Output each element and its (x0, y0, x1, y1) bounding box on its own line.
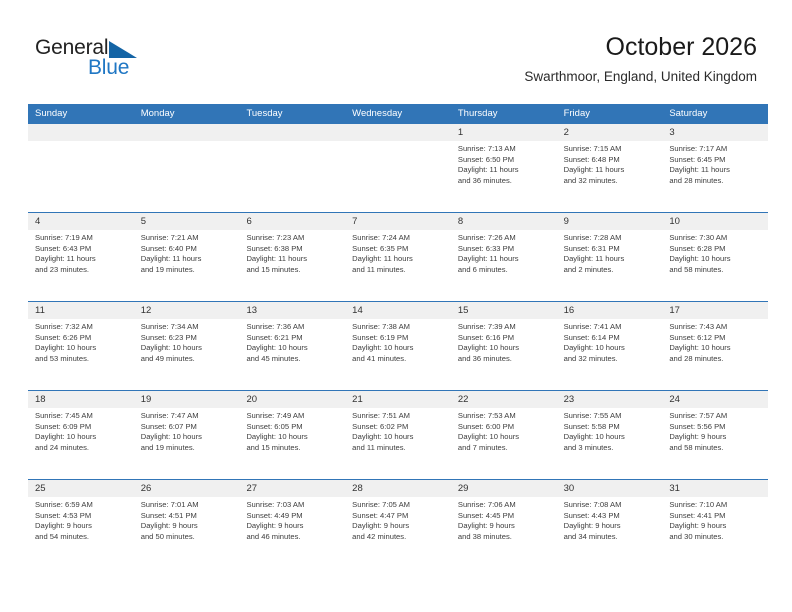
day-detail-line: Sunset: 4:51 PM (141, 511, 234, 522)
day-number-23[interactable]: 23 (557, 391, 663, 408)
day-cell-empty (239, 141, 345, 212)
day-detail-line: and 38 minutes. (458, 532, 551, 543)
day-detail-line: Sunset: 4:49 PM (246, 511, 339, 522)
day-cell-26[interactable]: Sunrise: 7:01 AMSunset: 4:51 PMDaylight:… (134, 497, 240, 568)
general-blue-logo[interactable]: General Blue (35, 36, 225, 86)
day-detail-line: Daylight: 10 hours (458, 432, 551, 443)
day-detail-line: Sunrise: 7:34 AM (141, 322, 234, 333)
week-detail-strip: Sunrise: 6:59 AMSunset: 4:53 PMDaylight:… (28, 497, 768, 568)
day-detail-line: Sunrise: 6:59 AM (35, 500, 128, 511)
day-detail-line: Sunrise: 7:24 AM (352, 233, 445, 244)
day-number-1[interactable]: 1 (451, 124, 557, 141)
day-number-empty (239, 124, 345, 141)
day-detail-line: and 42 minutes. (352, 532, 445, 543)
day-detail-line: Sunrise: 7:45 AM (35, 411, 128, 422)
day-of-week-wednesday: Wednesday (345, 104, 451, 124)
day-number-9[interactable]: 9 (557, 213, 663, 230)
day-detail-line: and 45 minutes. (246, 354, 339, 365)
day-cell-1[interactable]: Sunrise: 7:13 AMSunset: 6:50 PMDaylight:… (451, 141, 557, 212)
day-detail-line: Daylight: 11 hours (564, 165, 657, 176)
day-detail-line: and 2 minutes. (564, 265, 657, 276)
page-header: General Blue October 2026 Swarthmoor, En… (0, 0, 792, 100)
day-detail-line: Sunset: 6:28 PM (669, 244, 762, 255)
day-detail-line: Sunset: 6:33 PM (458, 244, 551, 255)
day-detail-line: Daylight: 9 hours (352, 521, 445, 532)
day-number-19[interactable]: 19 (134, 391, 240, 408)
week-date-strip: 11121314151617 (28, 302, 768, 319)
day-number-21[interactable]: 21 (345, 391, 451, 408)
day-detail-line: Sunset: 6:09 PM (35, 422, 128, 433)
day-detail-line: Sunset: 6:35 PM (352, 244, 445, 255)
day-detail-line: and 50 minutes. (141, 532, 234, 543)
calendar-week-row: 11121314151617Sunrise: 7:32 AMSunset: 6:… (28, 301, 768, 390)
day-number-6[interactable]: 6 (239, 213, 345, 230)
day-cell-5[interactable]: Sunrise: 7:21 AMSunset: 6:40 PMDaylight:… (134, 230, 240, 301)
day-number-7[interactable]: 7 (345, 213, 451, 230)
title-block: October 2026 Swarthmoor, England, United… (524, 32, 757, 87)
day-cell-11[interactable]: Sunrise: 7:32 AMSunset: 6:26 PMDaylight:… (28, 319, 134, 390)
day-detail-line: and 19 minutes. (141, 265, 234, 276)
day-detail-line: Sunrise: 7:17 AM (669, 144, 762, 155)
day-cell-4[interactable]: Sunrise: 7:19 AMSunset: 6:43 PMDaylight:… (28, 230, 134, 301)
day-detail-line: Daylight: 11 hours (564, 254, 657, 265)
week-date-strip: 18192021222324 (28, 391, 768, 408)
day-detail-line: and 53 minutes. (35, 354, 128, 365)
day-detail-line: Daylight: 10 hours (246, 432, 339, 443)
day-detail-line: Sunset: 6:45 PM (669, 155, 762, 166)
day-detail-line: Sunrise: 7:15 AM (564, 144, 657, 155)
day-detail-line: and 24 minutes. (35, 443, 128, 454)
day-detail-line: Daylight: 10 hours (564, 343, 657, 354)
day-detail-line: and 46 minutes. (246, 532, 339, 543)
day-number-2[interactable]: 2 (557, 124, 663, 141)
day-detail-line: Sunrise: 7:28 AM (564, 233, 657, 244)
day-detail-line: Sunset: 6:07 PM (141, 422, 234, 433)
day-cell-empty (134, 141, 240, 212)
day-cell-8[interactable]: Sunrise: 7:26 AMSunset: 6:33 PMDaylight:… (451, 230, 557, 301)
day-of-week-saturday: Saturday (662, 104, 768, 124)
day-detail-line: and 28 minutes. (669, 354, 762, 365)
day-number-27[interactable]: 27 (239, 480, 345, 497)
day-detail-line: Daylight: 11 hours (246, 254, 339, 265)
day-detail-line: Sunrise: 7:23 AM (246, 233, 339, 244)
day-detail-line: Sunset: 6:12 PM (669, 333, 762, 344)
calendar-week-row: 18192021222324Sunrise: 7:45 AMSunset: 6:… (28, 390, 768, 479)
day-cell-18[interactable]: Sunrise: 7:45 AMSunset: 6:09 PMDaylight:… (28, 408, 134, 479)
day-detail-line: and 49 minutes. (141, 354, 234, 365)
day-detail-line: Sunset: 6:05 PM (246, 422, 339, 433)
day-detail-line: Sunset: 6:16 PM (458, 333, 551, 344)
page-title: October 2026 (524, 32, 757, 62)
day-detail-line: Sunset: 6:14 PM (564, 333, 657, 344)
day-number-5[interactable]: 5 (134, 213, 240, 230)
day-detail-line: Daylight: 10 hours (669, 343, 762, 354)
day-of-week-sunday: Sunday (28, 104, 134, 124)
day-cell-28[interactable]: Sunrise: 7:05 AMSunset: 4:47 PMDaylight:… (345, 497, 451, 568)
day-cell-empty (345, 141, 451, 212)
day-detail-line: Sunrise: 7:47 AM (141, 411, 234, 422)
day-detail-line: Sunset: 6:19 PM (352, 333, 445, 344)
day-detail-line: Daylight: 11 hours (352, 254, 445, 265)
day-detail-line: and 32 minutes. (564, 354, 657, 365)
day-detail-line: Sunset: 4:41 PM (669, 511, 762, 522)
day-number-empty (345, 124, 451, 141)
logo-text-blue: Blue (88, 56, 129, 80)
day-detail-line: Sunrise: 7:36 AM (246, 322, 339, 333)
day-number-3[interactable]: 3 (662, 124, 768, 141)
day-detail-line: and 32 minutes. (564, 176, 657, 187)
day-detail-line: and 15 minutes. (246, 443, 339, 454)
day-detail-line: Daylight: 11 hours (458, 254, 551, 265)
day-detail-line: and 36 minutes. (458, 176, 551, 187)
day-of-week-header: SundayMondayTuesdayWednesdayThursdayFrid… (28, 104, 768, 124)
day-number-4[interactable]: 4 (28, 213, 134, 230)
week-date-strip: 123 (28, 124, 768, 141)
day-detail-line: Sunrise: 7:53 AM (458, 411, 551, 422)
day-number-empty (134, 124, 240, 141)
day-detail-line: Sunrise: 7:13 AM (458, 144, 551, 155)
day-number-18[interactable]: 18 (28, 391, 134, 408)
day-of-week-friday: Friday (557, 104, 663, 124)
day-detail-line: Daylight: 9 hours (141, 521, 234, 532)
day-detail-line: Sunset: 6:31 PM (564, 244, 657, 255)
day-number-13[interactable]: 13 (239, 302, 345, 319)
day-number-11[interactable]: 11 (28, 302, 134, 319)
day-detail-line: and 11 minutes. (352, 265, 445, 276)
day-detail-line: Sunrise: 7:57 AM (669, 411, 762, 422)
day-detail-line: Sunset: 6:43 PM (35, 244, 128, 255)
day-detail-line: Sunset: 6:02 PM (352, 422, 445, 433)
day-cell-17[interactable]: Sunrise: 7:43 AMSunset: 6:12 PMDaylight:… (662, 319, 768, 390)
day-cell-13[interactable]: Sunrise: 7:36 AMSunset: 6:21 PMDaylight:… (239, 319, 345, 390)
day-detail-line: and 23 minutes. (35, 265, 128, 276)
day-number-30[interactable]: 30 (557, 480, 663, 497)
day-detail-line: Daylight: 9 hours (35, 521, 128, 532)
calendar-week-row: 25262728293031Sunrise: 6:59 AMSunset: 4:… (28, 479, 768, 568)
calendar-week-row: 123Sunrise: 7:13 AMSunset: 6:50 PMDaylig… (28, 124, 768, 212)
week-detail-strip: Sunrise: 7:45 AMSunset: 6:09 PMDaylight:… (28, 408, 768, 479)
day-detail-line: Sunset: 6:50 PM (458, 155, 551, 166)
day-number-16[interactable]: 16 (557, 302, 663, 319)
week-detail-strip: Sunrise: 7:32 AMSunset: 6:26 PMDaylight:… (28, 319, 768, 390)
day-number-10[interactable]: 10 (662, 213, 768, 230)
day-cell-27[interactable]: Sunrise: 7:03 AMSunset: 4:49 PMDaylight:… (239, 497, 345, 568)
day-cell-16[interactable]: Sunrise: 7:41 AMSunset: 6:14 PMDaylight:… (557, 319, 663, 390)
day-detail-line: Sunrise: 7:08 AM (564, 500, 657, 511)
day-detail-line: Sunrise: 7:10 AM (669, 500, 762, 511)
day-detail-line: Daylight: 10 hours (141, 343, 234, 354)
day-cell-30[interactable]: Sunrise: 7:08 AMSunset: 4:43 PMDaylight:… (557, 497, 663, 568)
day-detail-line: Sunrise: 7:41 AM (564, 322, 657, 333)
day-detail-line: Sunset: 6:21 PM (246, 333, 339, 344)
day-detail-line: and 30 minutes. (669, 532, 762, 543)
day-number-17[interactable]: 17 (662, 302, 768, 319)
calendar-week-row: 45678910Sunrise: 7:19 AMSunset: 6:43 PMD… (28, 212, 768, 301)
day-number-15[interactable]: 15 (451, 302, 557, 319)
day-detail-line: Sunrise: 7:55 AM (564, 411, 657, 422)
day-detail-line: Sunrise: 7:30 AM (669, 233, 762, 244)
day-cell-19[interactable]: Sunrise: 7:47 AMSunset: 6:07 PMDaylight:… (134, 408, 240, 479)
week-detail-strip: Sunrise: 7:19 AMSunset: 6:43 PMDaylight:… (28, 230, 768, 301)
day-detail-line: and 58 minutes. (669, 443, 762, 454)
day-detail-line: Sunset: 4:45 PM (458, 511, 551, 522)
day-detail-line: Daylight: 10 hours (35, 343, 128, 354)
day-detail-line: Daylight: 11 hours (141, 254, 234, 265)
day-of-week-tuesday: Tuesday (239, 104, 345, 124)
day-number-25[interactable]: 25 (28, 480, 134, 497)
day-detail-line: Sunrise: 7:03 AM (246, 500, 339, 511)
day-cell-2[interactable]: Sunrise: 7:15 AMSunset: 6:48 PMDaylight:… (557, 141, 663, 212)
day-detail-line: and 7 minutes. (458, 443, 551, 454)
day-detail-line: Daylight: 9 hours (564, 521, 657, 532)
day-cell-24[interactable]: Sunrise: 7:57 AMSunset: 5:56 PMDaylight:… (662, 408, 768, 479)
day-detail-line: and 28 minutes. (669, 176, 762, 187)
day-detail-line: Daylight: 9 hours (669, 432, 762, 443)
day-detail-line: Daylight: 10 hours (564, 432, 657, 443)
day-cell-29[interactable]: Sunrise: 7:06 AMSunset: 4:45 PMDaylight:… (451, 497, 557, 568)
day-detail-line: Sunset: 4:43 PM (564, 511, 657, 522)
day-detail-line: Daylight: 11 hours (669, 165, 762, 176)
day-of-week-thursday: Thursday (451, 104, 557, 124)
day-number-20[interactable]: 20 (239, 391, 345, 408)
day-cell-23[interactable]: Sunrise: 7:55 AMSunset: 5:58 PMDaylight:… (557, 408, 663, 479)
calendar-grid: SundayMondayTuesdayWednesdayThursdayFrid… (28, 104, 768, 568)
day-detail-line: Sunrise: 7:21 AM (141, 233, 234, 244)
day-number-26[interactable]: 26 (134, 480, 240, 497)
day-detail-line: Sunrise: 7:26 AM (458, 233, 551, 244)
day-detail-line: Sunrise: 7:39 AM (458, 322, 551, 333)
day-detail-line: and 15 minutes. (246, 265, 339, 276)
day-cell-31[interactable]: Sunrise: 7:10 AMSunset: 4:41 PMDaylight:… (662, 497, 768, 568)
day-detail-line: Sunset: 4:47 PM (352, 511, 445, 522)
day-number-14[interactable]: 14 (345, 302, 451, 319)
day-detail-line: and 6 minutes. (458, 265, 551, 276)
day-number-22[interactable]: 22 (451, 391, 557, 408)
day-number-8[interactable]: 8 (451, 213, 557, 230)
day-detail-line: Daylight: 10 hours (352, 432, 445, 443)
day-cell-7[interactable]: Sunrise: 7:24 AMSunset: 6:35 PMDaylight:… (345, 230, 451, 301)
day-detail-line: Sunrise: 7:19 AM (35, 233, 128, 244)
week-date-strip: 25262728293031 (28, 480, 768, 497)
day-cell-empty (28, 141, 134, 212)
day-detail-line: and 54 minutes. (35, 532, 128, 543)
day-detail-line: Sunset: 6:48 PM (564, 155, 657, 166)
day-cell-25[interactable]: Sunrise: 6:59 AMSunset: 4:53 PMDaylight:… (28, 497, 134, 568)
day-detail-line: and 19 minutes. (141, 443, 234, 454)
day-cell-21[interactable]: Sunrise: 7:51 AMSunset: 6:02 PMDaylight:… (345, 408, 451, 479)
day-number-28[interactable]: 28 (345, 480, 451, 497)
day-detail-line: Sunrise: 7:01 AM (141, 500, 234, 511)
day-detail-line: Daylight: 9 hours (669, 521, 762, 532)
day-detail-line: and 41 minutes. (352, 354, 445, 365)
day-detail-line: Daylight: 10 hours (35, 432, 128, 443)
day-detail-line: Sunset: 6:38 PM (246, 244, 339, 255)
day-detail-line: Daylight: 9 hours (246, 521, 339, 532)
day-detail-line: Daylight: 10 hours (141, 432, 234, 443)
day-cell-15[interactable]: Sunrise: 7:39 AMSunset: 6:16 PMDaylight:… (451, 319, 557, 390)
day-detail-line: Sunrise: 7:32 AM (35, 322, 128, 333)
day-number-29[interactable]: 29 (451, 480, 557, 497)
day-detail-line: Daylight: 10 hours (246, 343, 339, 354)
day-detail-line: Sunrise: 7:43 AM (669, 322, 762, 333)
day-detail-line: Sunset: 5:58 PM (564, 422, 657, 433)
day-cell-20[interactable]: Sunrise: 7:49 AMSunset: 6:05 PMDaylight:… (239, 408, 345, 479)
day-cell-14[interactable]: Sunrise: 7:38 AMSunset: 6:19 PMDaylight:… (345, 319, 451, 390)
day-cell-12[interactable]: Sunrise: 7:34 AMSunset: 6:23 PMDaylight:… (134, 319, 240, 390)
day-detail-line: and 58 minutes. (669, 265, 762, 276)
day-number-31[interactable]: 31 (662, 480, 768, 497)
week-date-strip: 45678910 (28, 213, 768, 230)
day-detail-line: and 11 minutes. (352, 443, 445, 454)
day-number-empty (28, 124, 134, 141)
day-detail-line: Daylight: 10 hours (352, 343, 445, 354)
day-cell-9[interactable]: Sunrise: 7:28 AMSunset: 6:31 PMDaylight:… (557, 230, 663, 301)
day-of-week-monday: Monday (134, 104, 240, 124)
day-detail-line: Daylight: 10 hours (458, 343, 551, 354)
week-detail-strip: Sunrise: 7:13 AMSunset: 6:50 PMDaylight:… (28, 141, 768, 212)
day-detail-line: and 34 minutes. (564, 532, 657, 543)
day-detail-line: Sunset: 6:40 PM (141, 244, 234, 255)
day-detail-line: Sunset: 6:00 PM (458, 422, 551, 433)
day-detail-line: Sunset: 6:26 PM (35, 333, 128, 344)
day-detail-line: Sunset: 6:23 PM (141, 333, 234, 344)
day-detail-line: Sunrise: 7:06 AM (458, 500, 551, 511)
day-cell-3[interactable]: Sunrise: 7:17 AMSunset: 6:45 PMDaylight:… (662, 141, 768, 212)
day-detail-line: Sunset: 5:56 PM (669, 422, 762, 433)
calendar-weeks: 123Sunrise: 7:13 AMSunset: 6:50 PMDaylig… (28, 124, 768, 568)
day-detail-line: Sunrise: 7:05 AM (352, 500, 445, 511)
calendar-page: General Blue October 2026 Swarthmoor, En… (0, 0, 792, 612)
day-detail-line: Sunrise: 7:49 AM (246, 411, 339, 422)
page-subtitle: Swarthmoor, England, United Kingdom (524, 67, 757, 87)
day-detail-line: Sunrise: 7:51 AM (352, 411, 445, 422)
day-number-12[interactable]: 12 (134, 302, 240, 319)
day-cell-10[interactable]: Sunrise: 7:30 AMSunset: 6:28 PMDaylight:… (662, 230, 768, 301)
day-detail-line: Sunset: 4:53 PM (35, 511, 128, 522)
day-cell-6[interactable]: Sunrise: 7:23 AMSunset: 6:38 PMDaylight:… (239, 230, 345, 301)
day-detail-line: and 3 minutes. (564, 443, 657, 454)
day-detail-line: Daylight: 11 hours (35, 254, 128, 265)
day-detail-line: Daylight: 11 hours (458, 165, 551, 176)
day-detail-line: Daylight: 9 hours (458, 521, 551, 532)
day-detail-line: Sunrise: 7:38 AM (352, 322, 445, 333)
day-cell-22[interactable]: Sunrise: 7:53 AMSunset: 6:00 PMDaylight:… (451, 408, 557, 479)
day-number-24[interactable]: 24 (662, 391, 768, 408)
day-detail-line: Daylight: 10 hours (669, 254, 762, 265)
day-detail-line: and 36 minutes. (458, 354, 551, 365)
